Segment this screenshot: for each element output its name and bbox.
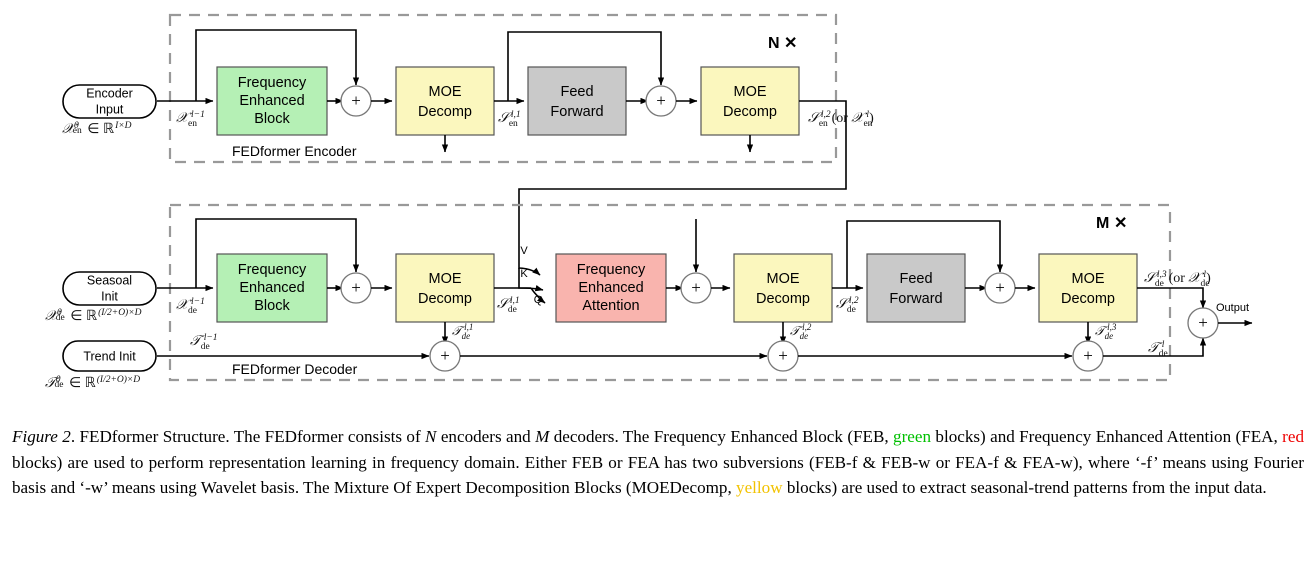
decoder-moe1-label-line2: Decomp [418, 291, 472, 307]
decoder-trend-math: 𝒯0de ∈ ℝ(I/2+O)×D [45, 374, 140, 391]
decoder-seasonal-in-math: 𝒳del−1 [176, 297, 205, 316]
encoder-output-math: 𝒮enl,2(or 𝒳enl) [808, 110, 874, 129]
decoder-attention-q-label: Q [534, 294, 543, 306]
decoder-moe2-label-line1: MOE [766, 271, 799, 287]
caption-figure-number: Figure 2 [12, 427, 71, 446]
decoder-trend-label: Trend Init [83, 349, 136, 363]
caption-segment-1: . FEDformer Structure. The FEDformer con… [71, 427, 425, 446]
decoder-moe3-label-line2: Decomp [1061, 291, 1115, 307]
decoder-moe-decomp-3[interactable] [1039, 254, 1137, 322]
decoder-adder-3-symbol: + [995, 278, 1005, 297]
encoder-group-label: FEDformer Encoder [232, 143, 357, 159]
decoder-moe3-label-line1: MOE [1071, 271, 1104, 287]
decoder-ff-label-line1: Feed [899, 271, 932, 287]
encoder-input-math: 𝒳0en ∈ ℝI×D [62, 121, 132, 137]
encoder-moe1-label-line2: Decomp [418, 104, 472, 120]
encoder-feb-label-line1: Frequency [238, 75, 307, 91]
encoder-moe-decomp-1[interactable] [396, 67, 494, 135]
decoder-seasonal-label-line1: Seasoal [87, 273, 132, 287]
encoder-moe2-label-line1: MOE [733, 84, 766, 100]
decoder-feed-forward-block[interactable] [867, 254, 965, 322]
caption-segment-4: blocks) and Frequency Enhanced Attention… [931, 427, 1282, 446]
decoder-repeat-label: M [1096, 215, 1109, 232]
encoder-ff-label-line1: Feed [560, 84, 593, 100]
encoder-feed-forward-block[interactable] [528, 67, 626, 135]
encoder-s1-math: 𝒮enl,1 [498, 110, 521, 129]
decoder-adder-1-symbol: + [351, 278, 361, 297]
decoder-trend-adder-3-symbol: + [1083, 346, 1093, 365]
decoder-adder-2-symbol: + [691, 278, 701, 297]
figure-panel: FEDformer Encoder N ✕ Encoder Input 𝒳0en… [0, 0, 1315, 576]
caption-math-m: M [535, 427, 549, 446]
decoder-repeat-times-icon: ✕ [1114, 215, 1127, 232]
decoder-attention-v-label: V [520, 245, 528, 257]
encoder-ff-label-line2: Forward [550, 104, 603, 120]
decoder-s1-math: 𝒮del,1 [497, 296, 520, 315]
encoder-repeat-times-icon: ✕ [784, 35, 797, 52]
caption-segment-3: decoders. The Frequency Enhanced Block (… [549, 427, 893, 446]
decoder-output-adder-symbol: + [1198, 313, 1208, 332]
decoder-trend-adder-1-symbol: + [440, 346, 450, 365]
encoder-input-label-line1: Encoder [86, 86, 133, 100]
encoder-feb-label-line3: Block [254, 111, 290, 127]
decoder-feb-label-line1: Frequency [238, 262, 307, 278]
encoder-moe2-label-line2: Decomp [723, 104, 777, 120]
decoder-output-label: Output [1216, 302, 1249, 314]
caption-word-red: red [1282, 427, 1304, 446]
caption-math-n: N [425, 427, 436, 446]
decoder-fea-label-line1: Frequency [577, 262, 646, 278]
encoder-adder-1-symbol: + [351, 91, 361, 110]
decoder-s3-math: 𝒮del,3(or 𝒳del) [1144, 270, 1211, 289]
caption-segment-2: encoders and [436, 427, 535, 446]
encoder-input-label-line2: Input [96, 102, 124, 116]
decoder-seasonal-label-line2: Init [101, 289, 118, 303]
caption-word-green: green [893, 427, 931, 446]
decoder-t1-math: 𝒯del,1 [452, 322, 473, 341]
decoder-s2-math: 𝒮del,2 [836, 296, 859, 315]
decoder-t3-math: 𝒯del,3 [1095, 322, 1117, 341]
encoder-signal-in-math: 𝒳enl−1 [176, 110, 205, 129]
encoder-moe1-label-line1: MOE [428, 84, 461, 100]
decoder-feb-label-line2: Enhanced [239, 280, 304, 296]
decoder-moe-decomp-2[interactable] [734, 254, 832, 322]
decoder-moe2-label-line2: Decomp [756, 291, 810, 307]
decoder-fea-label-line3: Attention [582, 298, 639, 314]
caption-segment-6: blocks) are used to extract seasonal-tre… [783, 478, 1267, 497]
encoder-moe-decomp-2[interactable] [701, 67, 799, 135]
encoder-repeat-label: N [768, 35, 780, 52]
figure-caption: Figure 2. FEDformer Structure. The FEDfo… [12, 424, 1304, 501]
decoder-feb-label-line3: Block [254, 298, 290, 314]
decoder-trend-adder-2-symbol: + [778, 346, 788, 365]
decoder-trend-in-math: 𝒯del−1 [190, 333, 218, 352]
fedformer-architecture-diagram: FEDformer Encoder N ✕ Encoder Input 𝒳0en… [0, 0, 1315, 410]
encoder-feb-label-line2: Enhanced [239, 93, 304, 109]
decoder-moe-decomp-1[interactable] [396, 254, 494, 322]
decoder-t2-math: 𝒯del,2 [790, 322, 812, 341]
decoder-group-label: FEDformer Decoder [232, 361, 358, 377]
encoder-adder-2-symbol: + [656, 91, 666, 110]
decoder-seasonal-math: 𝒳0de ∈ ℝ(I/2+O)×D [45, 307, 142, 324]
decoder-attention-k-label: K [520, 268, 528, 280]
caption-word-yellow: yellow [736, 478, 783, 497]
decoder-ff-label-line2: Forward [889, 291, 942, 307]
decoder-moe1-label-line1: MOE [428, 271, 461, 287]
decoder-fea-label-line2: Enhanced [578, 280, 643, 296]
